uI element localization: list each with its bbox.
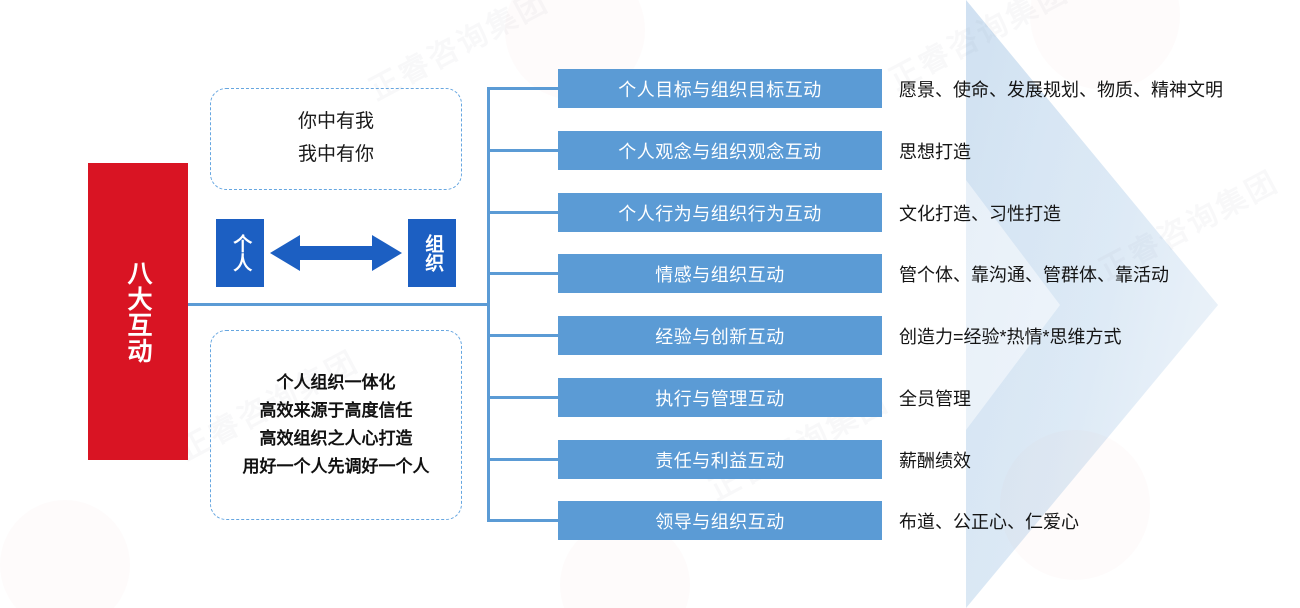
- interaction-description: 管个体、靠沟通、管群体、靠活动: [899, 254, 1169, 293]
- anchor-label: 八大互动: [122, 260, 154, 364]
- interaction-box-label: 情感与组织互动: [655, 261, 785, 287]
- connector-branch: [487, 87, 558, 90]
- interaction-description: 思想打造: [899, 131, 971, 170]
- interaction-box[interactable]: 情感与组织互动: [558, 254, 882, 293]
- individual-label: 个人: [229, 234, 251, 272]
- diagram-canvas: 正睿咨询集团 正睿咨询集团 正睿咨询集团 正睿咨询集团 正睿咨询集团 八大互动 …: [0, 0, 1300, 608]
- connector-trunk-vertical: [487, 87, 490, 522]
- interaction-box-label: 领导与组织互动: [655, 508, 785, 534]
- interaction-box[interactable]: 责任与利益互动: [558, 440, 882, 479]
- panel-top-text: 你中有我 我中有你: [298, 106, 374, 171]
- anchor-block: 八大互动: [88, 163, 188, 460]
- interaction-box[interactable]: 执行与管理互动: [558, 378, 882, 417]
- interaction-box-label: 个人观念与组织观念互动: [618, 138, 822, 164]
- interaction-description: 薪酬绩效: [899, 440, 971, 479]
- individual-box: 个人: [216, 219, 264, 287]
- interaction-box-label: 经验与创新互动: [655, 323, 785, 349]
- interaction-box[interactable]: 个人行为与组织行为互动: [558, 193, 882, 232]
- interaction-description: 文化打造、习性打造: [899, 193, 1061, 232]
- interaction-box-label: 个人行为与组织行为互动: [618, 200, 822, 226]
- interaction-box[interactable]: 领导与组织互动: [558, 501, 882, 540]
- interaction-box[interactable]: 个人目标与组织目标互动: [558, 69, 882, 108]
- connector-branch: [487, 519, 558, 522]
- interaction-box[interactable]: 个人观念与组织观念互动: [558, 131, 882, 170]
- connector-branch: [487, 211, 558, 214]
- double-headed-arrow-icon: [270, 232, 402, 274]
- organisation-box: 组织: [408, 219, 456, 287]
- panel-principles: 个人组织一体化 高效来源于高度信任 高效组织之人心打造 用好一个人先调好一个人: [210, 330, 462, 520]
- panel-top-line: 我中有你: [298, 139, 374, 172]
- connector-branch: [487, 149, 558, 152]
- interaction-box-label: 个人目标与组织目标互动: [618, 76, 822, 102]
- interaction-description: 布道、公正心、仁爱心: [899, 501, 1079, 540]
- connector-branch: [487, 272, 558, 275]
- panel-top-line: 你中有我: [298, 106, 374, 139]
- interaction-description: 全员管理: [899, 378, 971, 417]
- organisation-label: 组织: [421, 234, 443, 272]
- panel-bottom-line: 个人组织一体化: [243, 369, 430, 397]
- panel-mutual-inclusion: 你中有我 我中有你: [210, 88, 462, 190]
- connector-trunk-horizontal: [188, 303, 490, 306]
- watermark-ring: [0, 500, 130, 608]
- connector-branch: [487, 396, 558, 399]
- panel-bottom-line: 用好一个人先调好一个人: [243, 453, 430, 481]
- interaction-description: 愿景、使命、发展规划、物质、精神文明: [899, 69, 1223, 108]
- connector-branch: [487, 458, 558, 461]
- connector-branch: [487, 334, 558, 337]
- interaction-box-label: 责任与利益互动: [655, 447, 785, 473]
- interaction-description: 创造力=经验*热情*思维方式: [899, 316, 1122, 355]
- interaction-box-label: 执行与管理互动: [655, 385, 785, 411]
- interaction-box[interactable]: 经验与创新互动: [558, 316, 882, 355]
- panel-bottom-text: 个人组织一体化 高效来源于高度信任 高效组织之人心打造 用好一个人先调好一个人: [243, 369, 430, 482]
- panel-bottom-line: 高效组织之人心打造: [243, 425, 430, 453]
- panel-bottom-line: 高效来源于高度信任: [243, 397, 430, 425]
